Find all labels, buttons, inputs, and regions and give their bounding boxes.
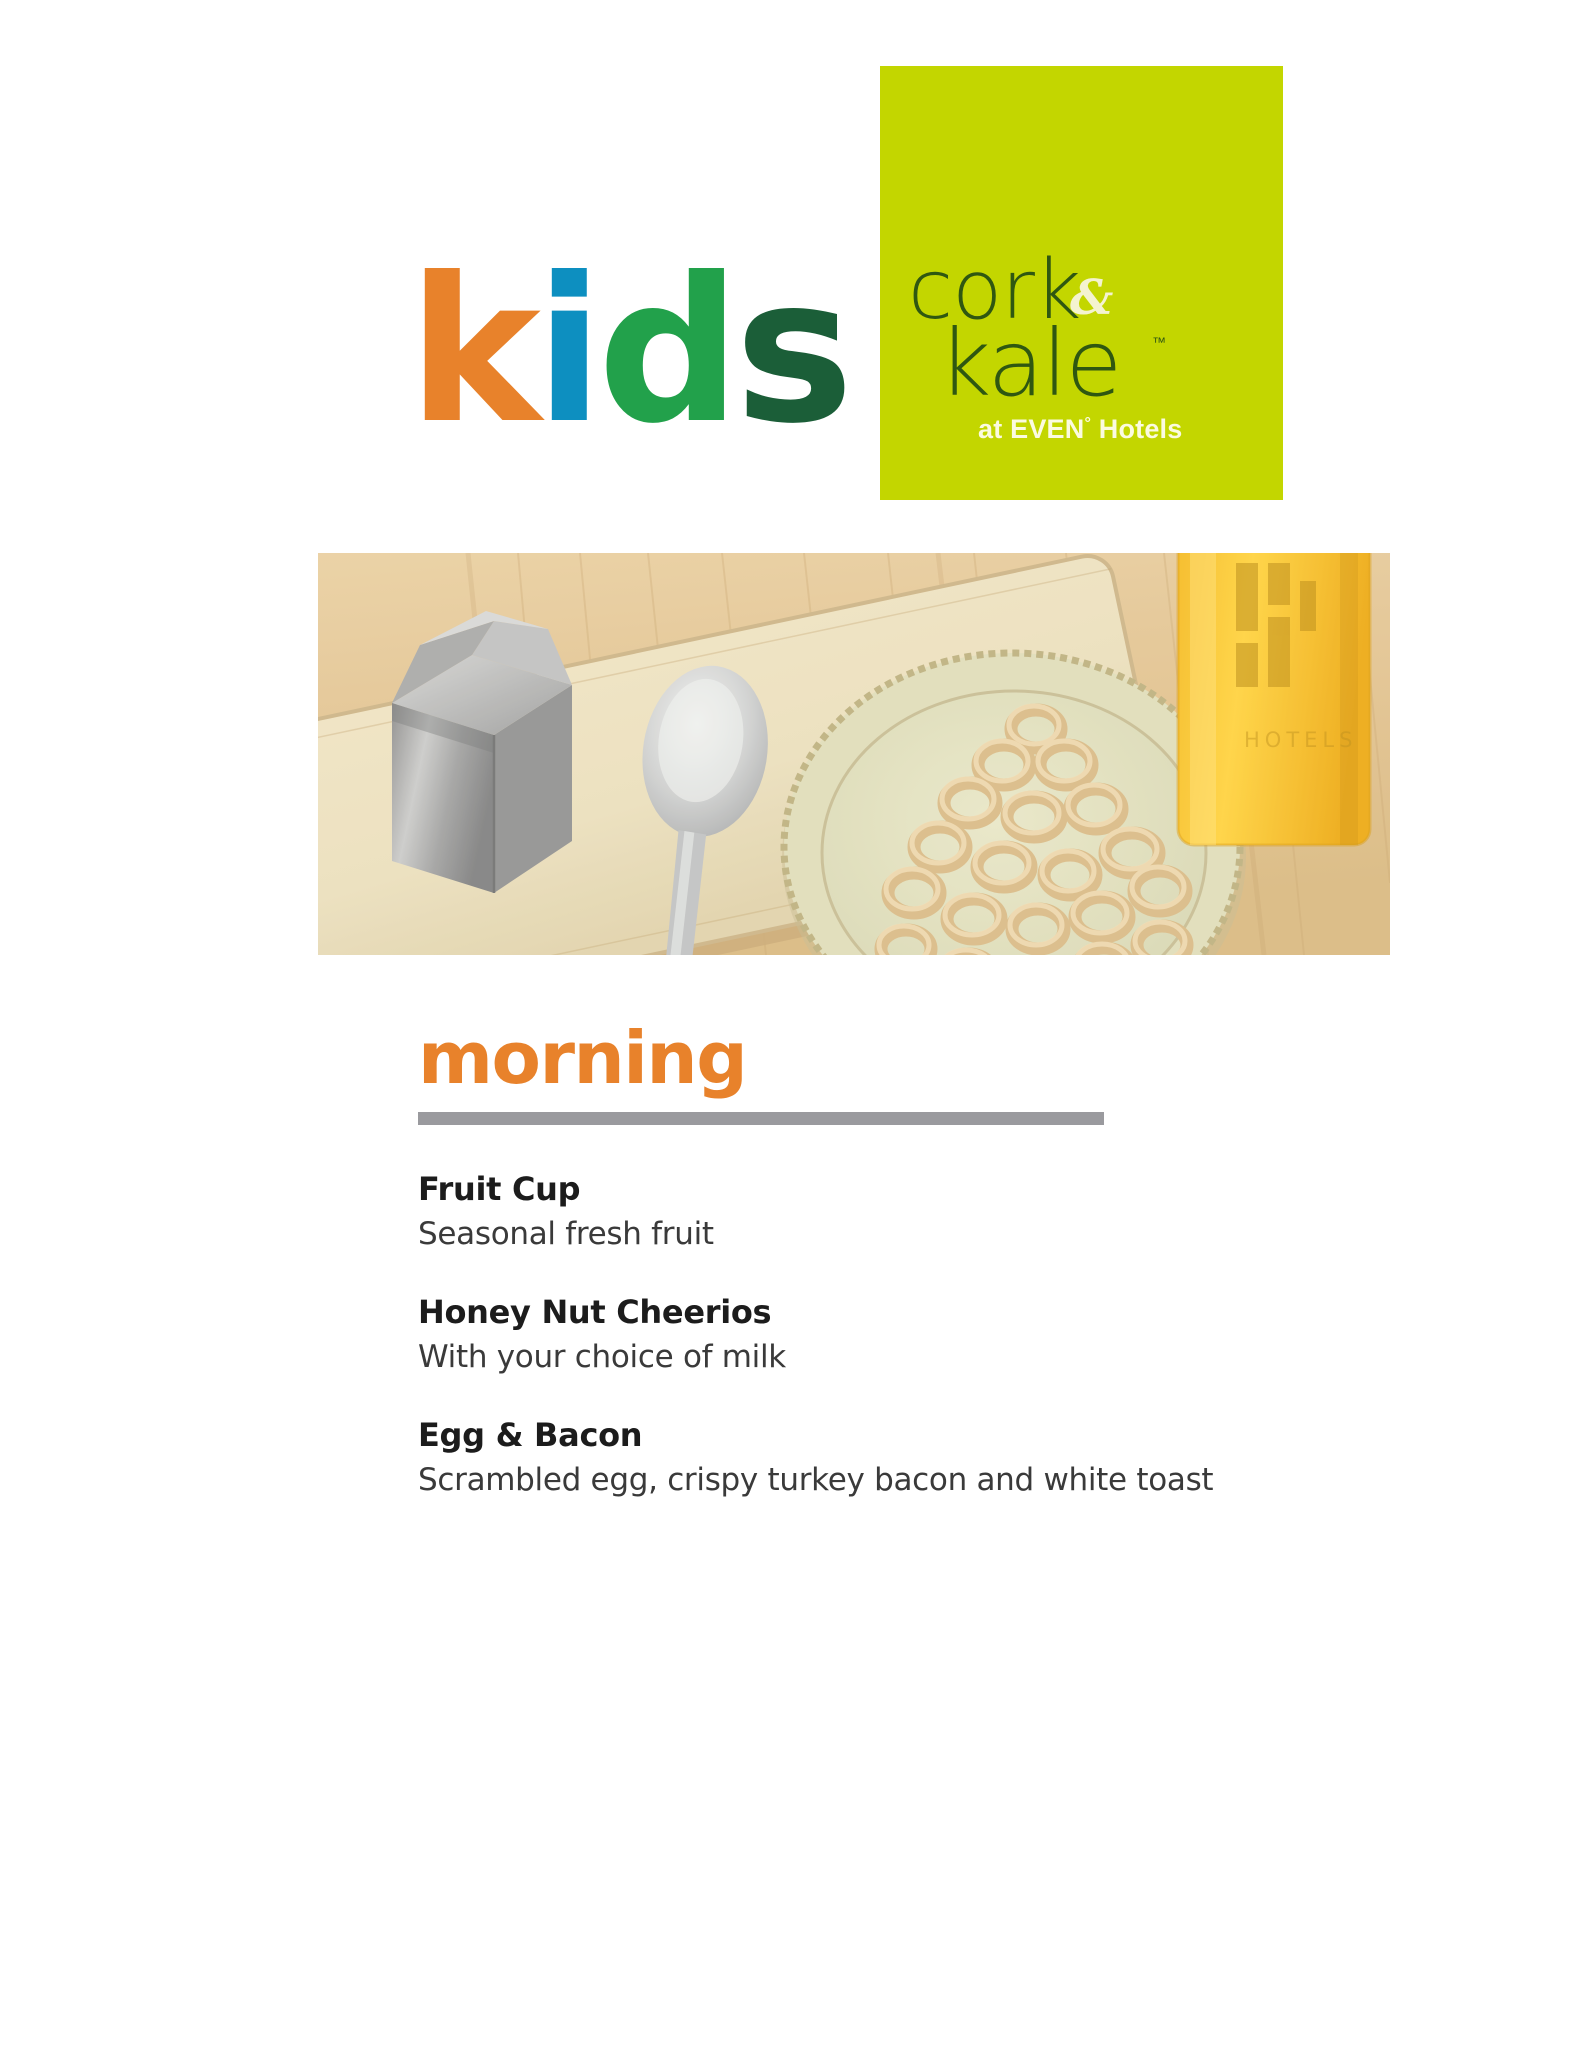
kids-letter-i: i <box>535 235 598 468</box>
logo-tagline: at EVEN° Hotels <box>978 416 1182 443</box>
section-divider <box>418 1112 1104 1125</box>
menu-item: Fruit Cup Seasonal fresh fruit <box>418 1169 1318 1254</box>
section-title: morning <box>418 1022 1318 1094</box>
menu-page: kids cork & kale ™ at EVEN° Hotels <box>0 0 1582 2048</box>
trademark-icon: ™ <box>1152 334 1166 350</box>
cork-and-kale-logo-box: cork & kale ™ at EVEN° Hotels <box>880 66 1283 500</box>
kids-letter-d: d <box>598 235 735 468</box>
breakfast-photo-image: HOTELS <box>318 553 1390 955</box>
kids-letter-s: s <box>735 235 848 468</box>
menu-item-name: Egg & Bacon <box>418 1415 1318 1455</box>
menu-item: Honey Nut Cheerios With your choice of m… <box>418 1292 1318 1377</box>
menu-item-description: Seasonal fresh fruit <box>418 1215 1318 1254</box>
menu-item-description: Scrambled egg, crispy turkey bacon and w… <box>418 1461 1318 1500</box>
morning-section: morning Fruit Cup Seasonal fresh fruit H… <box>418 1022 1318 1499</box>
kids-letter-k: k <box>408 235 535 468</box>
menu-item-description: With your choice of milk <box>418 1338 1318 1377</box>
logo-tagline-suffix: Hotels <box>1091 414 1182 444</box>
logo-tagline-text: at EVEN <box>978 414 1084 444</box>
kids-wordmark: kids <box>408 252 828 442</box>
breakfast-photo: HOTELS <box>318 553 1390 955</box>
cork-and-kale-logo: cork & kale ™ at EVEN° Hotels <box>880 66 1283 500</box>
logo-word-kale: kale <box>938 318 1120 410</box>
menu-item: Egg & Bacon Scrambled egg, crispy turkey… <box>418 1415 1318 1500</box>
menu-item-name: Honey Nut Cheerios <box>418 1292 1318 1332</box>
menu-item-name: Fruit Cup <box>418 1169 1318 1209</box>
